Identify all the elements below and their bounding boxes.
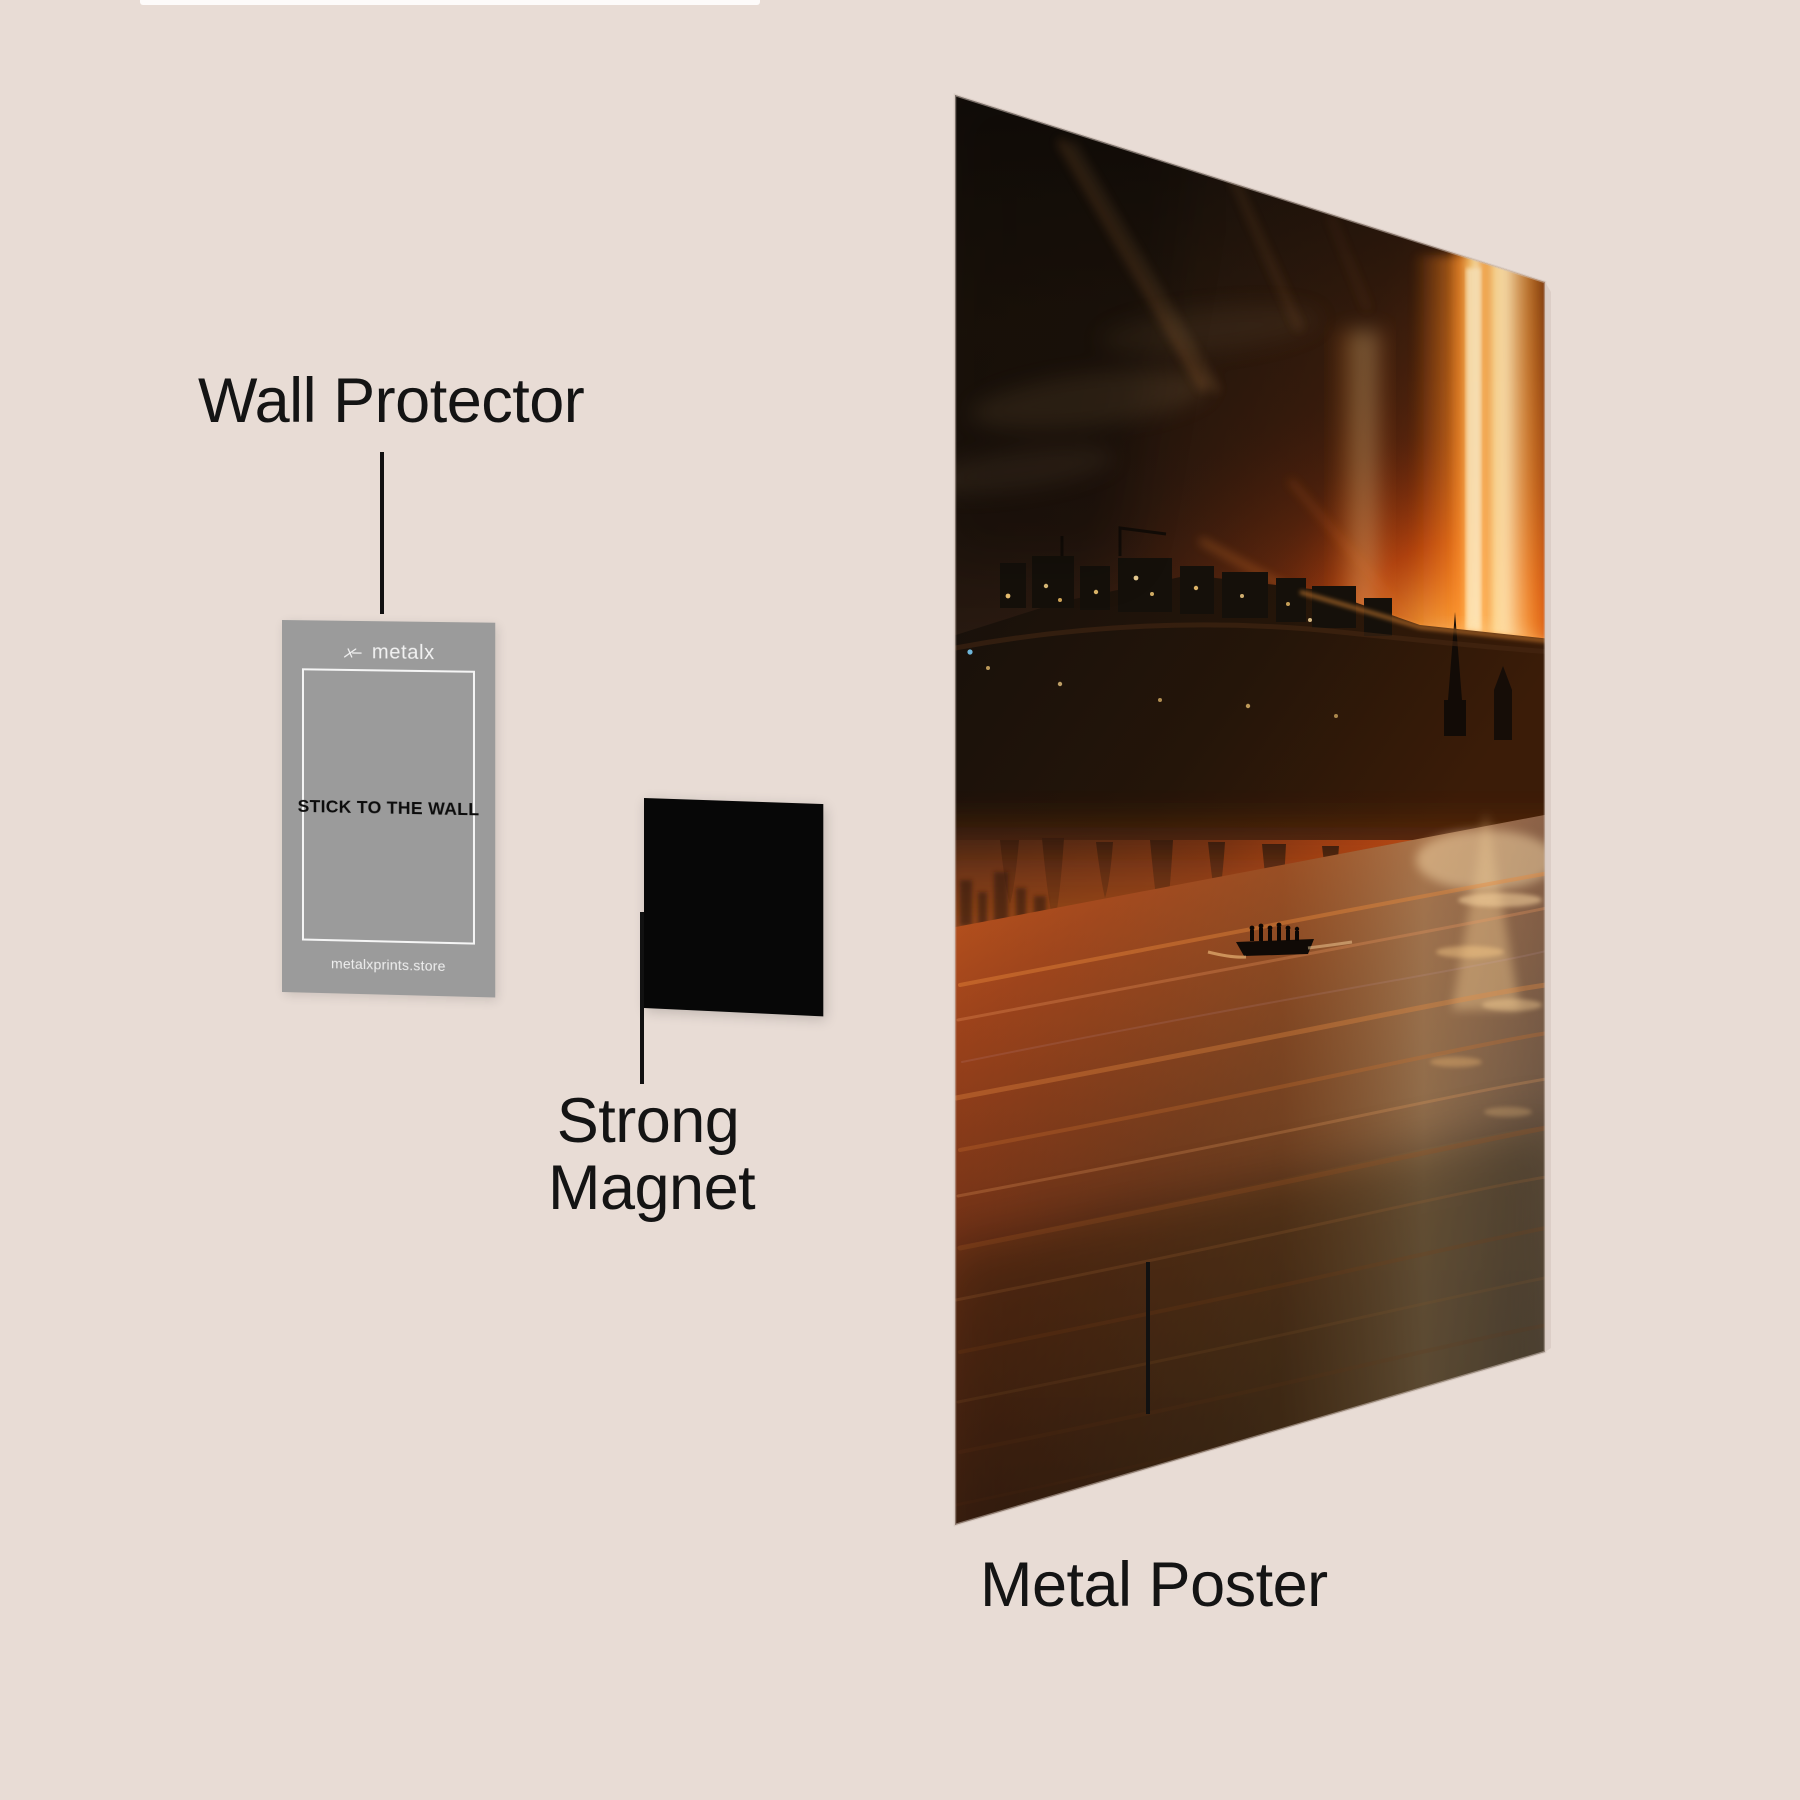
metalx-logo: metalx	[282, 640, 495, 666]
wall-protector-card[interactable]: metalx STICK TO THE WALL metalxprints.st…	[282, 620, 495, 997]
cropped-element-sliver	[140, 0, 760, 5]
store-url-text: metalxprints.store	[282, 954, 495, 975]
label-wall-protector: Wall Protector	[198, 368, 584, 435]
strong-magnet-square[interactable]	[644, 798, 823, 1016]
metalx-cross-icon	[342, 644, 364, 660]
city-lights	[967, 576, 1338, 718]
leader-line-strong-magnet	[640, 912, 644, 1084]
leader-line-metal-poster	[1146, 1262, 1150, 1414]
poster-artwork-content	[923, 80, 1730, 1600]
metal-poster-artwork	[0, 0, 1800, 1800]
product-feature-infographic: metalx STICK TO THE WALL metalxprints.st…	[0, 0, 1800, 1800]
label-metal-poster: Metal Poster	[980, 1552, 1328, 1619]
land-silhouette	[940, 575, 1560, 840]
water-surface	[940, 812, 1560, 1560]
poster-right-thickness	[1545, 282, 1551, 1352]
poster-edge-highlight	[955, 95, 1545, 1525]
melting-drips	[1000, 838, 1516, 954]
church-spire	[1444, 612, 1466, 736]
metalx-brand-text: metalx	[372, 641, 435, 665]
city-buildings	[1000, 556, 1392, 636]
boat	[1208, 923, 1352, 958]
leader-line-wall-protector	[380, 452, 384, 614]
water-waves	[956, 872, 1556, 1505]
label-strong-magnet: Strong Magnet	[548, 1088, 748, 1222]
stick-to-the-wall-text: STICK TO THE WALL	[282, 796, 495, 821]
